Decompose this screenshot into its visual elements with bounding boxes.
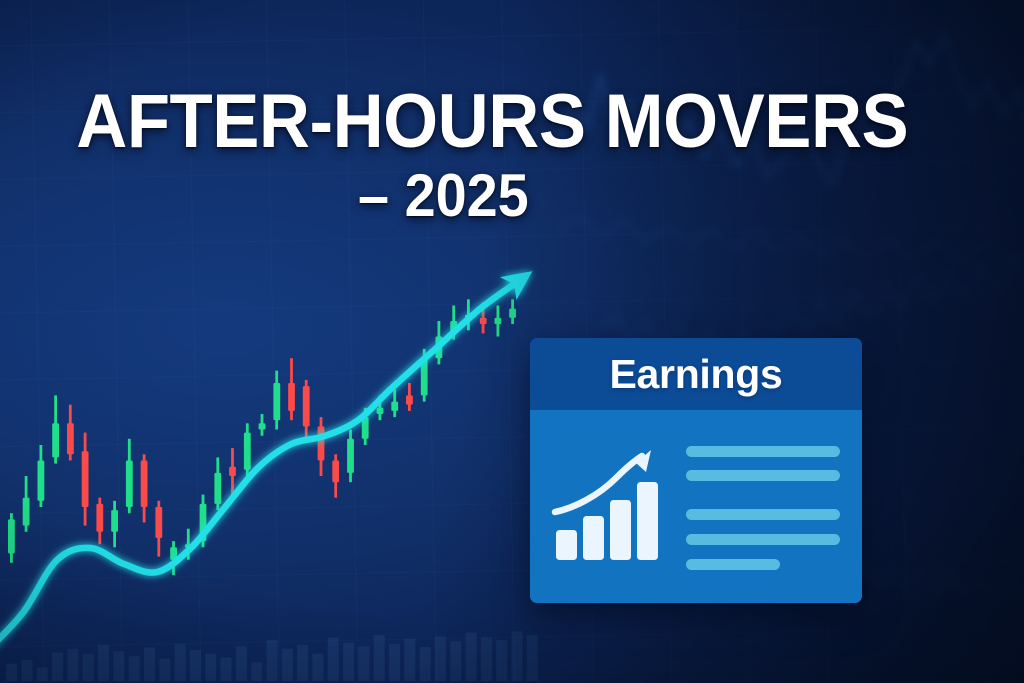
growth-bar-chart-arrow-icon (550, 448, 668, 566)
background-gradient (0, 0, 1024, 683)
earnings-card-line (686, 559, 780, 570)
earnings-card-line (686, 446, 840, 457)
earnings-card-text-lines (686, 444, 840, 570)
earnings-card[interactable]: Earnings (530, 338, 862, 603)
earnings-card-body (530, 410, 862, 603)
earnings-card-line (686, 470, 840, 481)
earnings-card-line (686, 509, 840, 520)
earnings-card-title: Earnings (609, 354, 782, 395)
banner-canvas: AFTER-HOURS MOVERS – 2025 Earnings (0, 0, 1024, 683)
earnings-card-line (686, 534, 840, 545)
earnings-card-header: Earnings (530, 338, 862, 410)
